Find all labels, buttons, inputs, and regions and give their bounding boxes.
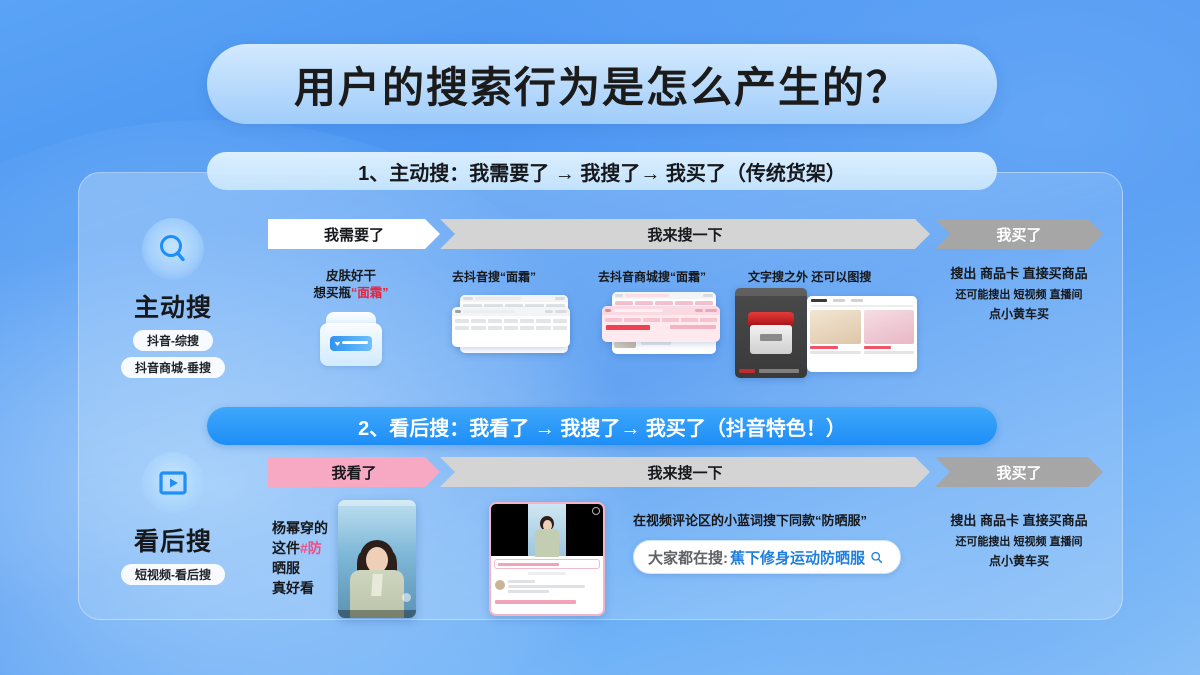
section-1-header-label: 1、主动搜：我需要了 → 我搜了→ 我买了（传统货架）: [358, 157, 846, 186]
step-chevron-buy-label: 我买了: [996, 224, 1041, 245]
image-search-results-panel: [807, 296, 917, 372]
seen-line-3-highlight: 晒服: [272, 558, 344, 578]
persona-name-2: 看后搜: [80, 522, 266, 558]
phone-mock-comments: [489, 502, 605, 616]
caption-image-search: 文字搜之外 还可以图搜: [748, 268, 871, 285]
step-chevron-buy: 我买了: [935, 219, 1103, 249]
buy-2-line-2: 还可能搜出 短视频 直播间: [931, 533, 1107, 549]
search-icon: [156, 232, 190, 266]
persona-icon-halo: [142, 218, 204, 280]
phone-mock-mall-search-front: [602, 306, 720, 342]
page-title: 用户的搜索行为是怎么产生的？: [294, 54, 910, 115]
step-chevron-watched-label: 我看了: [331, 462, 376, 483]
need-line-2-prefix: 想买瓶: [313, 286, 351, 300]
step-chevron-need-label: 我需要了: [324, 224, 384, 245]
caption-comment-blue-word: 在视频评论区的小蓝词搜下同款“防晒服”: [633, 510, 867, 529]
image-search-dark-panel: [735, 288, 807, 378]
seen-line-2-highlight: #防: [300, 540, 322, 556]
seen-line-2: 这件#防: [272, 538, 344, 558]
need-block: 皮肤好干 想买瓶“面霜”: [268, 268, 434, 366]
need-line-2: 想买瓶“面霜”: [268, 285, 434, 302]
step-chevron-buy-2: 我买了: [935, 457, 1103, 487]
cream-jar-icon: [320, 312, 382, 366]
buy-line-3: 点小黄车买: [931, 305, 1107, 322]
slide-title-pill: 用户的搜索行为是怎么产生的？: [207, 44, 997, 124]
persona-tag-3: 短视频-看后搜: [121, 564, 225, 585]
caption-douyin-search: 去抖音搜“面霜”: [452, 268, 536, 285]
step-chevron-need: 我需要了: [268, 219, 440, 249]
persona-active-search: 主动搜 抖音-综搜 抖音商城-垂搜: [80, 218, 266, 378]
phone-mock-douyin-search-front: [452, 307, 570, 347]
persona-icon-halo-2: [142, 452, 204, 514]
seen-line-4: 真好看: [272, 578, 344, 598]
buy-block-active: 搜出 商品卡 直接买商品 还可能搜出 短视频 直播间 点小黄车买: [931, 263, 1107, 322]
buy-line-2: 还可能搜出 短视频 直播间: [931, 286, 1107, 302]
seen-line-2-text: 这件: [272, 540, 300, 556]
search-suggestion-pill[interactable]: 大家都在搜: 蕉下修身运动防晒服: [633, 540, 901, 574]
section-2-header: 2、看后搜：我看了 → 我搜了→ 我买了（抖音特色！）: [207, 407, 997, 445]
persona-tag-1: 抖音-综搜: [133, 330, 213, 351]
step-chevron-watched: 我看了: [268, 457, 440, 487]
buy-line-1: 搜出 商品卡 直接买商品: [931, 263, 1107, 282]
persona-tag-2: 抖音商城-垂搜: [121, 357, 225, 378]
section-2-header-label: 2、看后搜：我看了 → 我搜了→ 我买了（抖音特色！）: [358, 412, 846, 441]
step-chevron-search-label: 我来搜一下: [647, 224, 722, 245]
video-play-icon: [156, 466, 190, 500]
caption-mall-search: 去抖音商城搜“面霜”: [598, 268, 706, 285]
step-chevron-search-2: 我来搜一下: [440, 457, 930, 487]
section-1-header: 1、主动搜：我需要了 → 我搜了→ 我买了（传统货架）: [207, 152, 997, 190]
phone-mock-short-video: [338, 500, 416, 618]
search-pill-query: 蕉下修身运动防晒服: [730, 547, 865, 568]
search-pill-prefix: 大家都在搜:: [648, 547, 728, 568]
search-icon: [870, 551, 883, 564]
seen-line-1: 杨幂穿的: [272, 518, 344, 538]
need-line-1: 皮肤好干: [268, 268, 434, 285]
step-chevron-search: 我来搜一下: [440, 219, 930, 249]
buy-2-line-3: 点小黄车买: [931, 552, 1107, 569]
product-jar-icon: [748, 312, 794, 354]
buy-2-line-1: 搜出 商品卡 直接买商品: [931, 510, 1107, 529]
persona-post-view-search: 看后搜 短视频-看后搜: [80, 452, 266, 585]
step-chevron-search-2-label: 我来搜一下: [647, 462, 722, 483]
step-chevron-buy-2-label: 我买了: [996, 462, 1041, 483]
video-person-figure: [346, 540, 408, 618]
persona-name: 主动搜: [80, 288, 266, 324]
seen-block: 杨幂穿的 这件#防 晒服 真好看: [272, 518, 344, 598]
need-line-2-highlight: “面霜”: [351, 286, 389, 300]
buy-block-post-view: 搜出 商品卡 直接买商品 还可能搜出 短视频 直播间 点小黄车买: [931, 510, 1107, 569]
